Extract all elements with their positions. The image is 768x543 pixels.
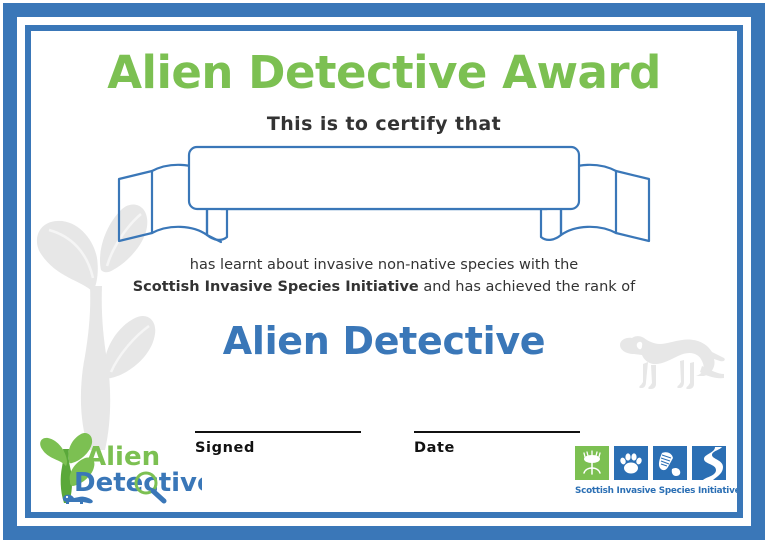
sisi-logo: Scottish Invasive Species Initiative bbox=[575, 446, 733, 506]
boot-print-icon bbox=[653, 446, 687, 480]
river-icon bbox=[692, 446, 726, 480]
body-line-1: has learnt about invasive non-native spe… bbox=[31, 254, 737, 276]
recipient-name-field[interactable] bbox=[189, 147, 579, 209]
date-label: Date bbox=[414, 440, 580, 456]
logo-word-detectives: Detectives bbox=[74, 468, 202, 498]
certificate-body-text: has learnt about invasive non-native spe… bbox=[31, 254, 737, 299]
date-group: Date bbox=[414, 431, 580, 456]
paw-print-icon bbox=[614, 446, 648, 480]
rank-title: Alien Detective bbox=[31, 319, 737, 363]
thistle-plant-icon bbox=[575, 446, 609, 480]
signed-group: Signed bbox=[195, 431, 361, 456]
certificate-content-area: Alien Detective Award This is to certify… bbox=[31, 31, 737, 512]
body-line-2-rest: and has achieved the rank of bbox=[419, 279, 635, 295]
body-line-2: Scottish Invasive Species Initiative and… bbox=[31, 276, 737, 298]
signed-line[interactable] bbox=[195, 431, 361, 433]
date-line[interactable] bbox=[414, 431, 580, 433]
page-title: Alien Detective Award bbox=[31, 49, 737, 96]
signed-label: Signed bbox=[195, 440, 361, 456]
name-ribbon-banner[interactable] bbox=[117, 139, 651, 249]
organisation-name: Scottish Invasive Species Initiative bbox=[133, 279, 419, 295]
alien-detectives-logo: Alien Detectives bbox=[36, 433, 202, 505]
sisi-caption: Scottish Invasive Species Initiative bbox=[575, 485, 727, 496]
sisi-tiles bbox=[575, 446, 733, 480]
alien-detectives-logo-graphic: Alien Detectives bbox=[36, 433, 202, 505]
certificate-page: Alien Detective Award This is to certify… bbox=[0, 0, 768, 543]
certify-subtitle: This is to certify that bbox=[31, 113, 737, 135]
